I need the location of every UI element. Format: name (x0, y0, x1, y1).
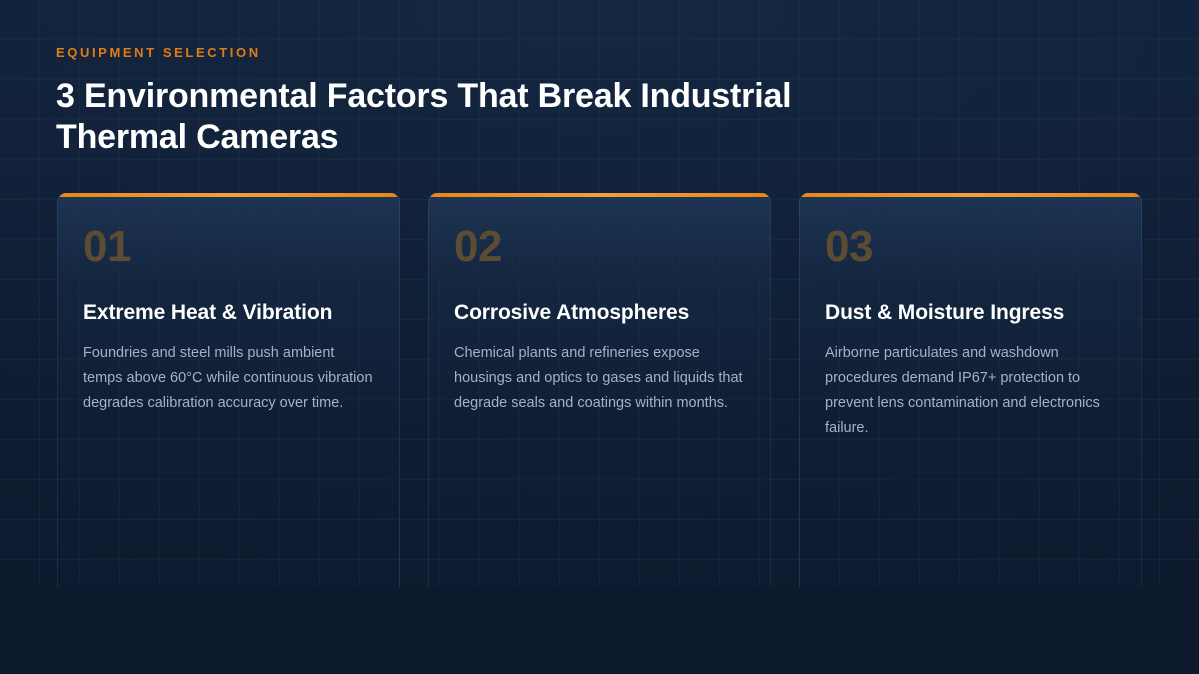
card-body-text: Chemical plants and refineries expose ho… (454, 341, 744, 416)
card-body-text: Foundries and steel mills push ambient t… (83, 341, 373, 416)
background-bottom-band (0, 587, 1199, 674)
card-number: 01 (83, 223, 373, 271)
eyebrow-label: EQUIPMENT SELECTION (56, 44, 956, 62)
factor-card-02: 02 Corrosive Atmospheres Chemical plants… (428, 193, 771, 587)
factor-card-list: 01 Extreme Heat & Vibration Foundries an… (57, 193, 1142, 587)
card-number: 02 (454, 223, 744, 271)
card-accent-bar (429, 193, 770, 197)
factor-card-03: 03 Dust & Moisture Ingress Airborne part… (799, 193, 1142, 587)
factor-card-01: 01 Extreme Heat & Vibration Foundries an… (57, 193, 400, 587)
slide-header: EQUIPMENT SELECTION 3 Environmental Fact… (56, 44, 956, 158)
card-heading: Extreme Heat & Vibration (83, 300, 373, 326)
page-title: 3 Environmental Factors That Break Indus… (56, 76, 836, 158)
card-accent-bar (800, 193, 1141, 197)
card-content: 03 Dust & Moisture Ingress Airborne part… (800, 193, 1141, 441)
card-heading: Dust & Moisture Ingress (825, 300, 1115, 326)
card-heading: Corrosive Atmospheres (454, 300, 744, 326)
card-number: 03 (825, 223, 1115, 271)
card-content: 01 Extreme Heat & Vibration Foundries an… (58, 193, 399, 416)
card-body-text: Airborne particulates and washdown proce… (825, 341, 1115, 441)
card-content: 02 Corrosive Atmospheres Chemical plants… (429, 193, 770, 416)
slide-canvas: EQUIPMENT SELECTION 3 Environmental Fact… (0, 0, 1199, 674)
card-accent-bar (58, 193, 399, 197)
